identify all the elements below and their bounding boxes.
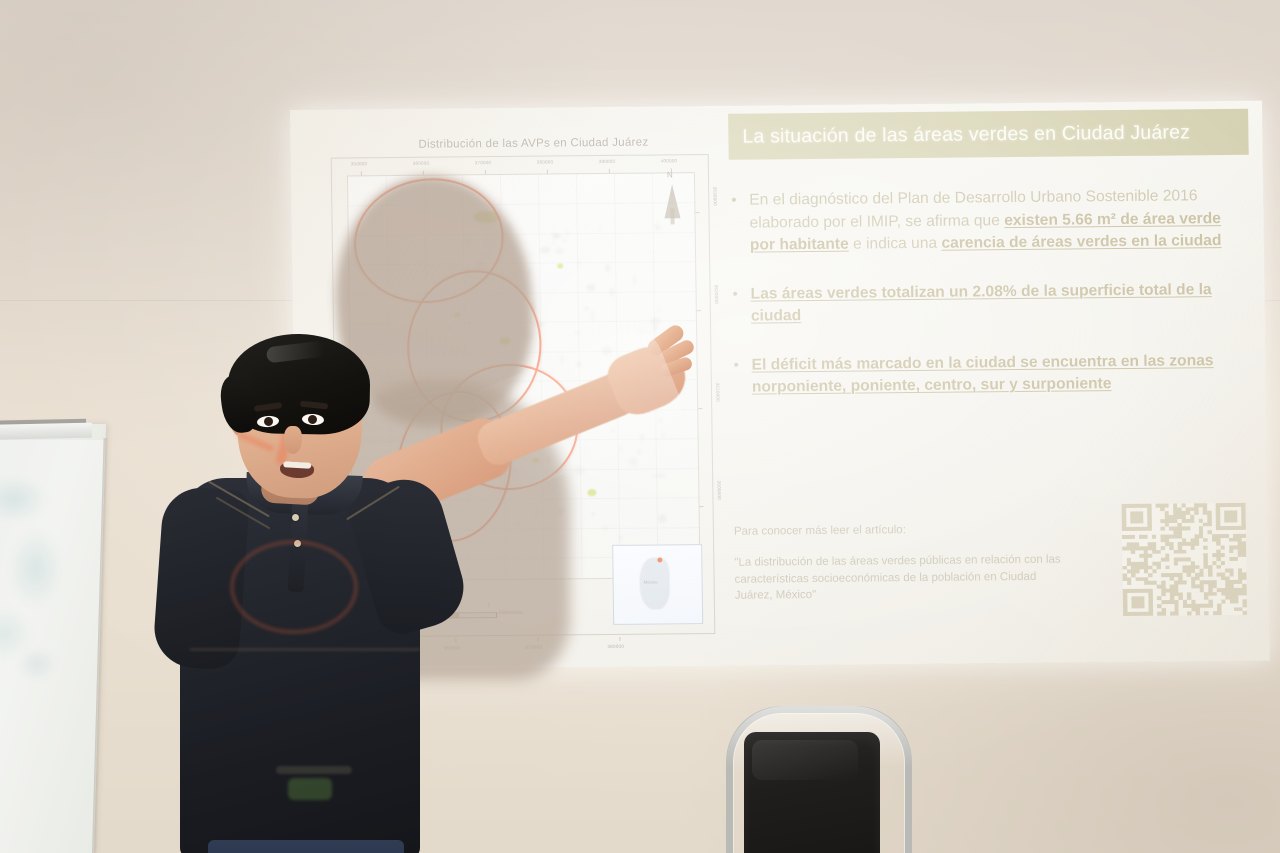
- map-x-tick-mark: [485, 170, 486, 174]
- map-x-tick-label: 400000: [661, 158, 678, 163]
- bullet-marker: •: [730, 283, 751, 328]
- map-x-tick-mark: [423, 171, 424, 175]
- map-title: Distribución de las AVPs en Ciudad Juáre…: [368, 136, 698, 151]
- chair-backrest: [744, 732, 880, 853]
- flipchart-rail: [0, 423, 92, 441]
- qr-code-canvas: [1122, 503, 1248, 616]
- presenter-hair: [227, 333, 371, 435]
- map-urban-patch: [527, 252, 534, 256]
- map-y-tick-mark: [700, 506, 704, 507]
- map-x-ticks: 350000360000370000380000390000400000: [308, 120, 720, 124]
- map-bottom-tick-label: 380000: [607, 644, 624, 649]
- map-urban-patch: [656, 474, 666, 478]
- photo-scene: Distribución de las AVPs en Ciudad Juáre…: [0, 0, 1280, 853]
- slide-title-bar: La situación de las áreas verdes en Ciud…: [728, 109, 1249, 160]
- map-x-tick-mark: [547, 170, 548, 174]
- projected-streak-cheek: [236, 431, 275, 453]
- chair: [726, 706, 898, 853]
- footer-lead-text: Para conocer más leer el artículo:: [734, 521, 1064, 540]
- map-y-tick-label: 3510000: [715, 383, 720, 402]
- north-arrow-stem: [670, 208, 674, 224]
- bullet-segment: Las áreas verdes totalizan un 2.08% de l…: [750, 281, 1211, 325]
- map-urban-patch: [597, 227, 601, 230]
- bullet-text: En el diagnóstico del Plan de Desarrollo…: [749, 185, 1250, 257]
- map-x-tick-label: 360000: [413, 161, 430, 166]
- bullet-segment: carencia de áreas verdes en la ciudad: [941, 232, 1221, 252]
- map-urban-patch: [605, 264, 610, 272]
- map-urban-patch: [658, 305, 661, 313]
- projected-ring-on-shirt: [230, 540, 358, 634]
- map-bottom-ticks: 350000360000370000380000: [308, 120, 720, 124]
- slide-title: La situación de las áreas verdes en Ciud…: [742, 121, 1190, 148]
- slide-bullet-list: •En el diagnóstico del Plan de Desarroll…: [729, 185, 1252, 425]
- map-green-area: [588, 489, 597, 496]
- map-y-ticks: 3530000352000035100003500000: [308, 120, 720, 124]
- inset-location-dot: [657, 557, 662, 562]
- map-y-tick-label: 3520000: [713, 285, 718, 304]
- map-urban-patch: [552, 239, 557, 245]
- map-bottom-tick-mark: [619, 637, 620, 641]
- map-urban-patch: [577, 260, 581, 266]
- footer-article-quote: "La distribución de las áreas verdes púb…: [734, 552, 1065, 605]
- bullet-deficit: •El déficit más marcado en la ciudad se …: [731, 349, 1252, 399]
- presenter: [150, 340, 550, 853]
- map-x-tick-label: 380000: [537, 159, 554, 164]
- bullet-diagnostico: •En el diagnóstico del Plan de Desarroll…: [729, 185, 1250, 257]
- map-urban-patch: [552, 232, 559, 240]
- map-urban-patch: [586, 225, 588, 228]
- map-urban-patch: [591, 311, 595, 321]
- nose: [284, 426, 302, 454]
- map-urban-patch: [587, 284, 596, 292]
- map-urban-patch: [602, 525, 610, 530]
- presenter-torso: [180, 478, 420, 853]
- map-urban-patch: [540, 247, 551, 254]
- shirt-graphic-band: [276, 766, 352, 774]
- map-urban-patch: [634, 275, 636, 284]
- map-urban-patch: [628, 458, 636, 465]
- bullet-text: El déficit más marcado en la ciudad se e…: [751, 349, 1252, 399]
- map-urban-patch: [650, 318, 660, 325]
- polo-button-top: [292, 514, 299, 521]
- map-y-tick-label: 3500000: [716, 481, 721, 500]
- presenter-jeans: [208, 840, 404, 853]
- map-urban-patch: [565, 230, 570, 235]
- map-x-tick-mark: [361, 171, 362, 175]
- flipchart-easel: [0, 424, 106, 853]
- map-urban-patch: [592, 512, 595, 516]
- slide-footer: Para conocer más leer el artículo: "La d…: [734, 521, 1065, 605]
- bullet-marker: •: [731, 354, 752, 399]
- map-x-tick-mark: [609, 169, 610, 173]
- map-inset-locator: México: [612, 544, 703, 625]
- map-urban-patch: [619, 535, 622, 541]
- map-urban-patch: [574, 331, 582, 334]
- map-y-tick-mark: [695, 212, 699, 213]
- map-urban-patch: [638, 450, 641, 455]
- flipchart-markings: [0, 464, 75, 714]
- map-urban-patch: [584, 307, 589, 310]
- map-x-tick-label: 370000: [475, 160, 492, 165]
- bullet-segment: e indica una: [849, 235, 942, 253]
- north-label: N: [667, 170, 673, 179]
- bullet-superficie: •Las áreas verdes totalizan un 2.08% de …: [730, 278, 1251, 328]
- hair-highlight: [266, 340, 326, 363]
- inset-label: México: [644, 579, 658, 584]
- projected-line-on-shirt: [190, 648, 420, 651]
- bullet-marker: •: [729, 190, 750, 258]
- map-x-tick-label: 390000: [599, 159, 616, 164]
- map-urban-patch: [554, 248, 564, 255]
- map-urban-patch: [562, 239, 568, 242]
- bullet-segment: El déficit más marcado en la ciudad se e…: [751, 352, 1213, 396]
- map-urban-patch: [656, 224, 659, 231]
- map-urban-patch: [657, 514, 667, 522]
- shirt-graphic: [288, 778, 332, 800]
- bullet-text: Las áreas verdes totalizan un 2.08% de l…: [750, 278, 1251, 328]
- map-y-tick-label: 3530000: [712, 187, 717, 206]
- map-y-tick-mark: [698, 408, 702, 409]
- qr-code-graphic: [1122, 503, 1248, 616]
- map-green-area: [557, 263, 563, 268]
- map-y-tick-mark: [697, 310, 701, 311]
- map-x-tick-label: 350000: [351, 161, 368, 166]
- north-arrow-icon: N: [661, 172, 684, 228]
- map-urban-patch: [610, 288, 615, 296]
- qr-code[interactable]: [1122, 503, 1248, 616]
